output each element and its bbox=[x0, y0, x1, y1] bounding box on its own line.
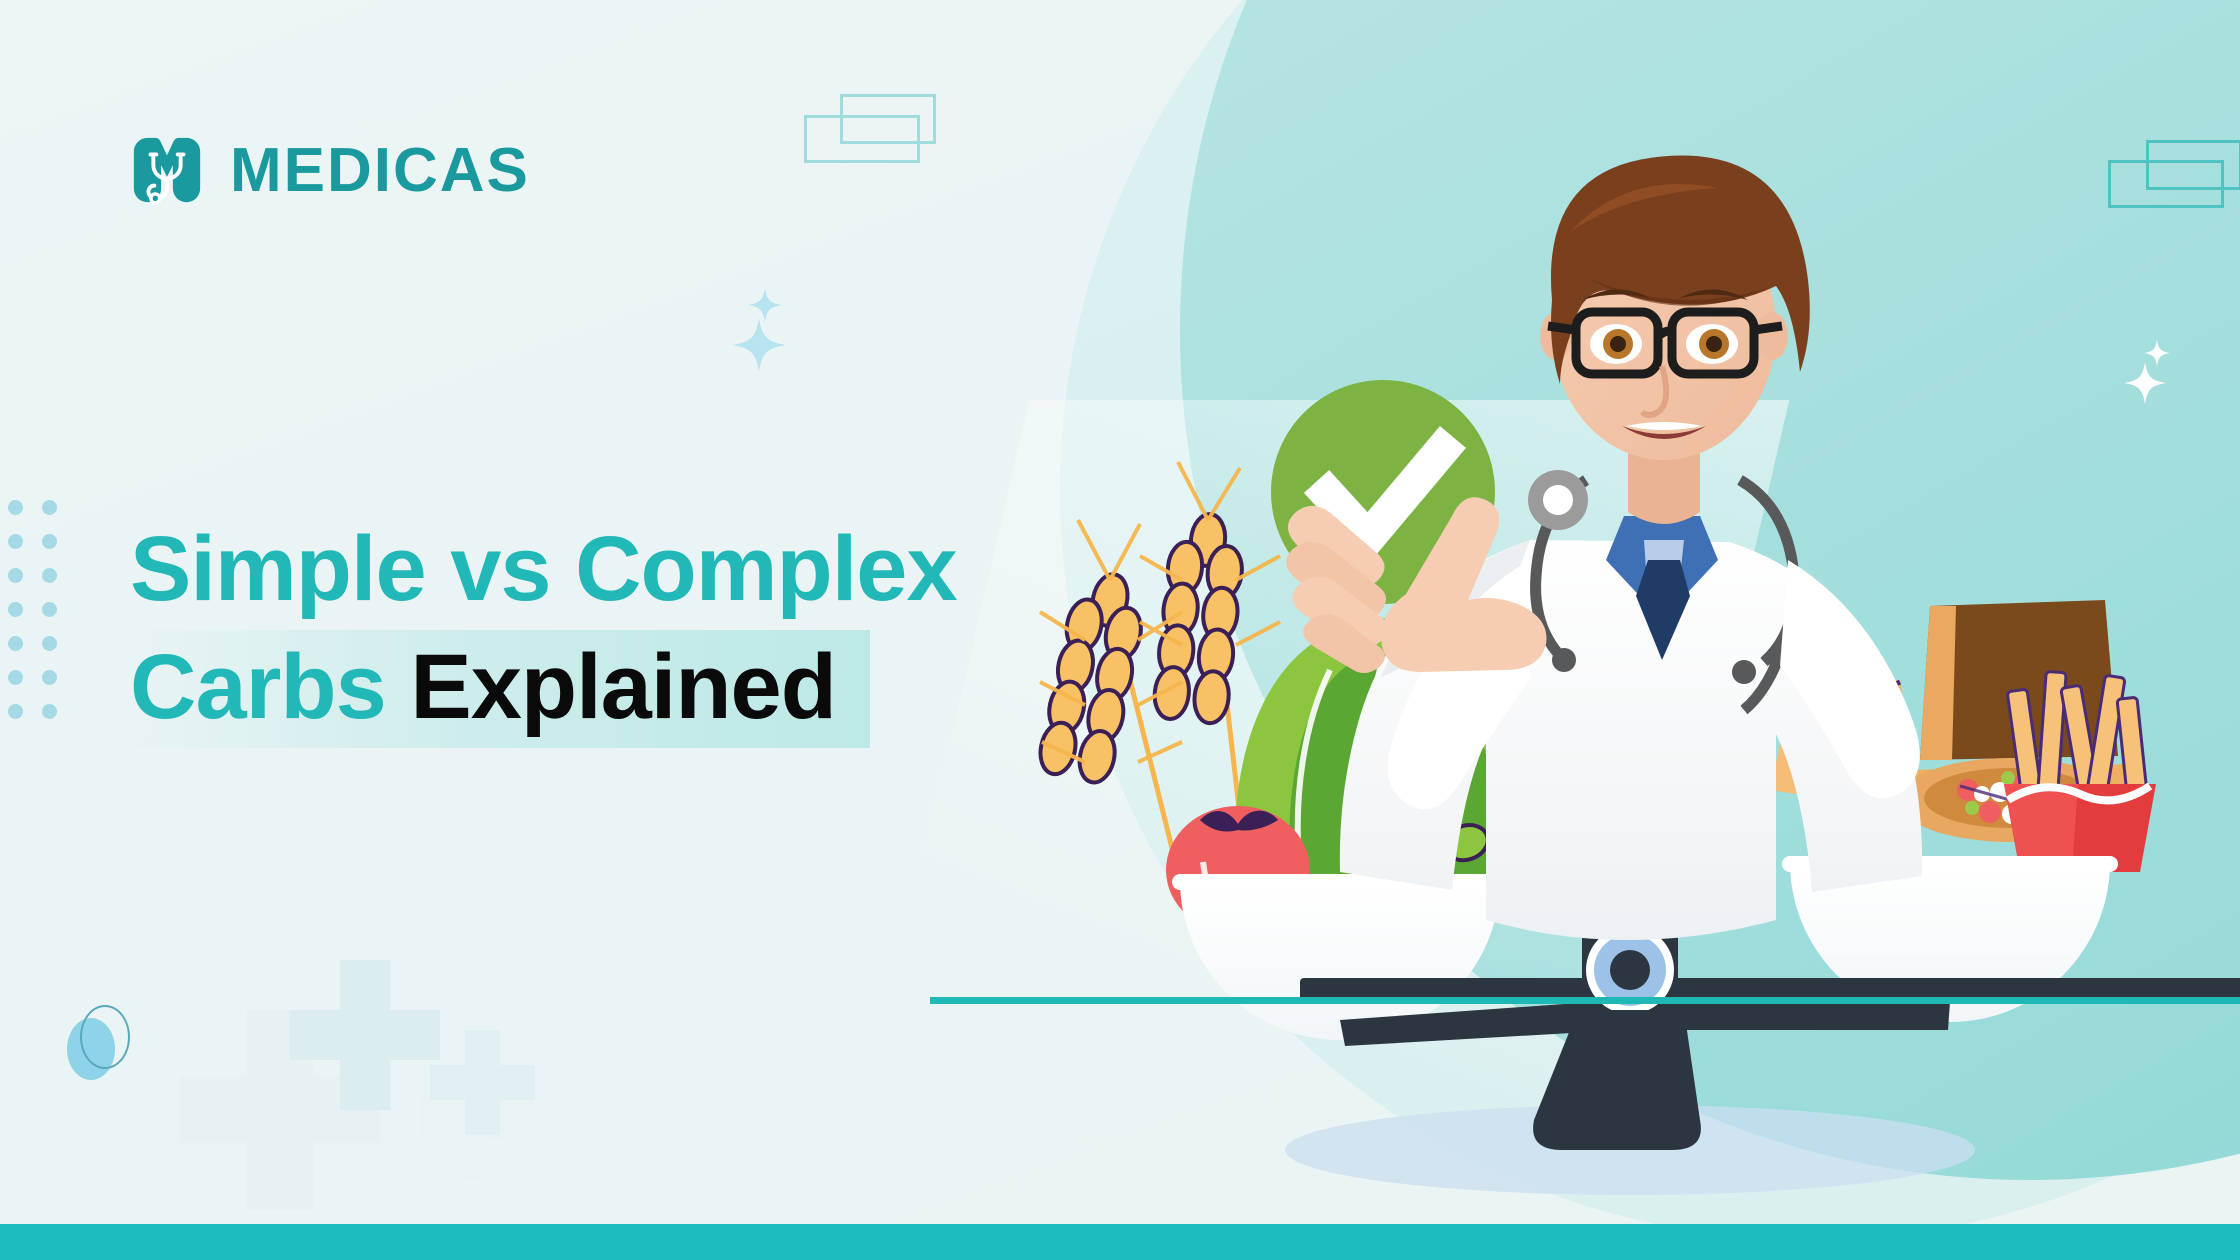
sparkle-icon bbox=[748, 288, 782, 322]
outlined-circle-decoration bbox=[80, 1005, 130, 1069]
sparkle-icon bbox=[732, 318, 786, 372]
sparkle-icon bbox=[2124, 362, 2166, 404]
medical-cross-icon bbox=[430, 1030, 535, 1135]
headline-line-2-dark: Explained bbox=[410, 636, 836, 738]
headline-line-2: Carbs Explained bbox=[130, 628, 864, 752]
brand-name: MEDICAS bbox=[230, 140, 530, 202]
stepped-rect-decoration bbox=[2108, 160, 2224, 208]
banner-canvas: MEDICAS Simple vs Complex Carbs Explaine… bbox=[0, 0, 2240, 1260]
m-stethoscope-logo-icon bbox=[128, 132, 206, 210]
horizontal-rule bbox=[930, 997, 2240, 1004]
medical-cross-icon bbox=[290, 960, 440, 1110]
headline-line-1: Simple vs Complex bbox=[130, 512, 1110, 628]
brand-logo[interactable]: MEDICAS bbox=[128, 132, 530, 210]
headline-block: Simple vs Complex Carbs Explained bbox=[130, 512, 1110, 752]
stepped-rect-decoration bbox=[804, 115, 920, 163]
headline-line-2-teal: Carbs bbox=[130, 636, 386, 738]
bottom-accent-bar bbox=[0, 1224, 2240, 1260]
dot-grid bbox=[8, 500, 76, 738]
